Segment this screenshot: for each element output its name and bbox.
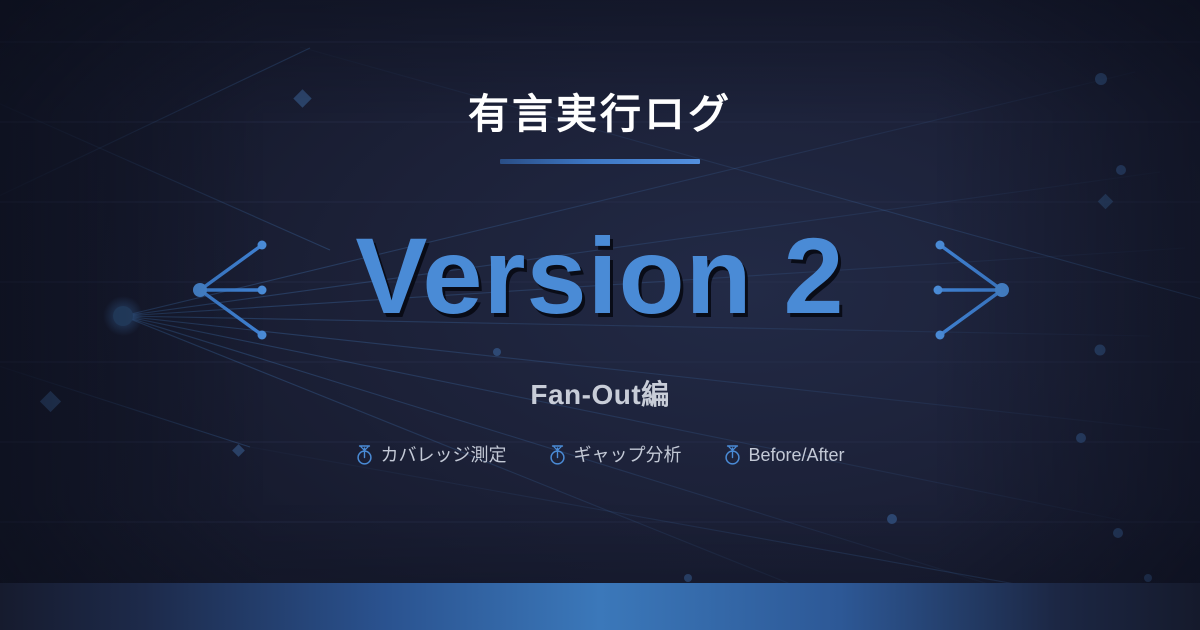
subtitle: Fan-Out編 xyxy=(0,377,1200,413)
badge-label: カバレッジ測定 xyxy=(380,446,506,464)
card-content: 有言実行ログ Version 2 Fan-Out編 カバレッジ測定 xyxy=(0,0,1200,630)
title-underline-rule xyxy=(500,159,700,164)
badge-item: カバレッジ測定 xyxy=(355,444,506,466)
page-title: 有言実行ログ xyxy=(0,90,1200,139)
bottom-accent-bar xyxy=(0,583,1200,630)
badge-label: Before/After xyxy=(748,446,844,464)
badge-label: ギャップ分析 xyxy=(573,446,681,464)
stopwatch-icon xyxy=(355,444,374,466)
social-card: 有言実行ログ Version 2 Fan-Out編 カバレッジ測定 xyxy=(0,0,1200,630)
badge-row: カバレッジ測定 ギャップ分析 xyxy=(0,444,1200,466)
badge-item: ギャップ分析 xyxy=(548,444,681,466)
stopwatch-icon xyxy=(723,444,742,466)
version-headline: Version 2 xyxy=(0,208,1200,343)
stopwatch-icon xyxy=(548,444,567,466)
badge-item: Before/After xyxy=(723,444,844,466)
